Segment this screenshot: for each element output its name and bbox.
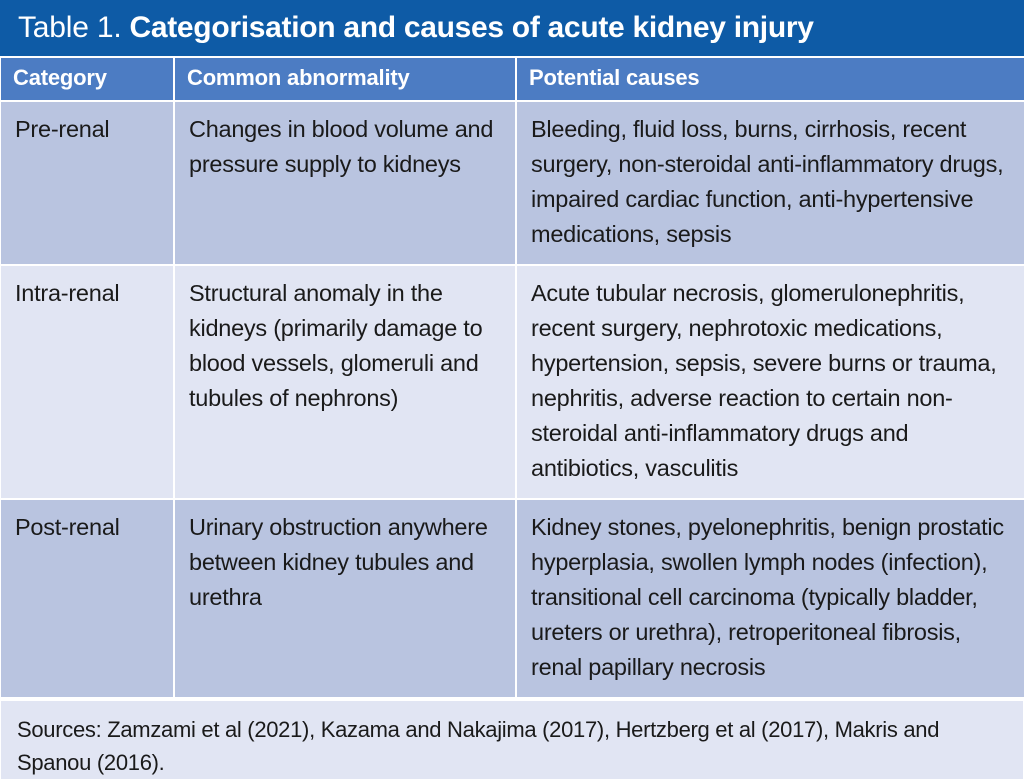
table-row: Intra-renal Structural anomaly in the ki… — [1, 266, 1024, 498]
cell-category: Post-renal — [1, 500, 173, 697]
table-header: Category Common abnormality Potential ca… — [1, 58, 1024, 100]
cell-abnormality: Changes in blood volume and pressure sup… — [175, 102, 515, 264]
cell-causes: Kidney stones, pyelonephritis, benign pr… — [517, 500, 1024, 697]
table-body: Pre-renal Changes in blood volume and pr… — [1, 102, 1024, 697]
cell-category: Intra-renal — [1, 266, 173, 498]
cell-abnormality: Structural anomaly in the kidneys (prima… — [175, 266, 515, 498]
table-sources-footer: Sources: Zamzami et al (2021), Kazama an… — [1, 701, 1023, 779]
cell-causes: Acute tubular necrosis, glomerulonephrit… — [517, 266, 1024, 498]
table-title-text: Categorisation and causes of acute kidne… — [129, 11, 813, 45]
column-header-potential-causes: Potential causes — [517, 58, 1024, 100]
table-row: Pre-renal Changes in blood volume and pr… — [1, 102, 1024, 264]
cell-abnormality: Urinary obstruction anywhere between kid… — [175, 500, 515, 697]
table-title-bar: Table 1. Categorisation and causes of ac… — [0, 0, 1024, 56]
cell-category: Pre-renal — [1, 102, 173, 264]
table-number-label: Table 1. — [18, 11, 121, 45]
sources-text: Sources: Zamzami et al (2021), Kazama an… — [17, 713, 1007, 779]
table-figure: Table 1. Categorisation and causes of ac… — [0, 0, 1024, 776]
cell-causes: Bleeding, fluid loss, burns, cirrhosis, … — [517, 102, 1024, 264]
column-header-common-abnormality: Common abnormality — [175, 58, 515, 100]
data-table: Category Common abnormality Potential ca… — [0, 56, 1024, 699]
column-header-category: Category — [1, 58, 173, 100]
table-row: Post-renal Urinary obstruction anywhere … — [1, 500, 1024, 697]
table-header-row: Category Common abnormality Potential ca… — [1, 58, 1024, 100]
